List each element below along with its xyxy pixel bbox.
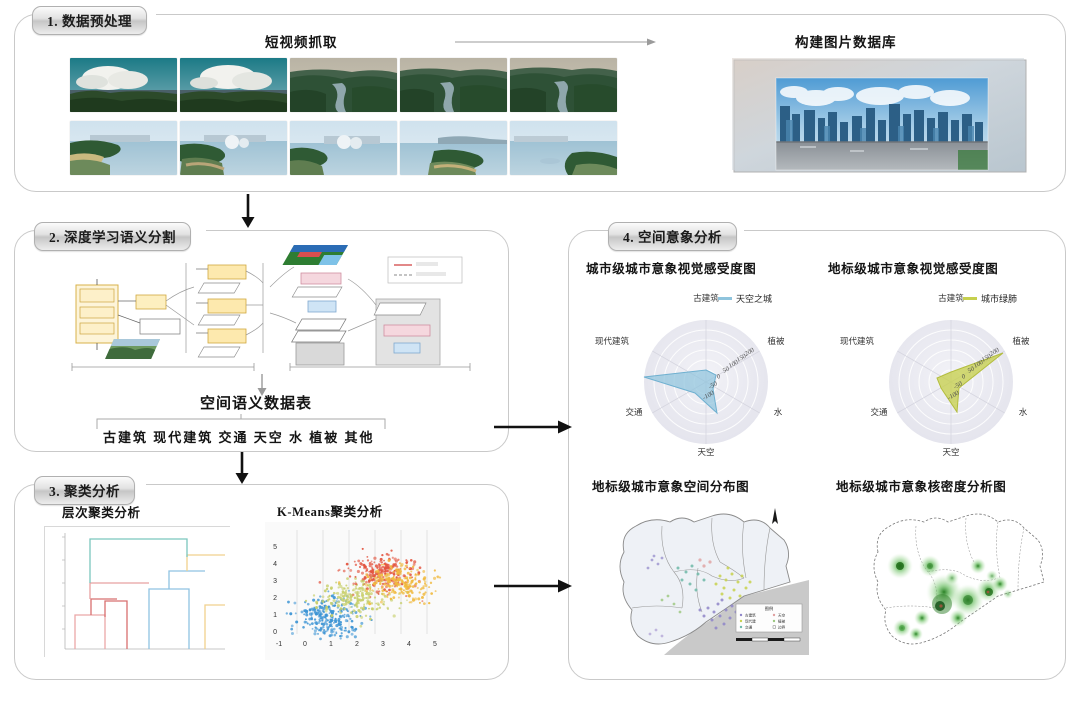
- radar-axis-label: 交通: [625, 406, 642, 418]
- svg-text:1: 1: [273, 612, 277, 619]
- svg-text:现代建: 现代建: [745, 618, 756, 623]
- svg-text:5: 5: [273, 544, 277, 551]
- section-tab-3[interactable]: 3. 聚类分析: [34, 476, 135, 505]
- radar-axis-label: 交通: [870, 406, 887, 418]
- thumbnail-frame: [180, 121, 287, 175]
- radar-axis-label: 现代建筑: [840, 335, 874, 347]
- thumbnail-frame: [510, 121, 617, 175]
- radar-chart-city: 200 150 100 50 0 -50 -100: [600, 282, 820, 462]
- database-title: 构建图片数据库: [795, 31, 897, 51]
- thumbnail-frame: [180, 58, 287, 112]
- flow-arrow-1-to-2: [240, 194, 256, 228]
- video-capture-title: 短视频抓取: [265, 31, 338, 51]
- radar-chart-landmark: 200 150 100 50 0 -50 -100: [845, 282, 1065, 462]
- svg-text:0: 0: [273, 629, 277, 636]
- thumbnail-frame: [70, 121, 177, 175]
- thumbnail-frame: [510, 58, 617, 112]
- radar-axis-label: 古建筑: [693, 292, 719, 304]
- radar-legend-landmark: 城市绿肺: [963, 292, 1017, 305]
- radar-city-title: 城市级城市意象视觉感受度图: [586, 258, 756, 277]
- section-tab-1[interactable]: 1. 数据预处理: [32, 6, 147, 35]
- svg-text:5: 5: [433, 641, 437, 648]
- map-point-distribution: 图例 古建筑 现代建 交通 天空 植被 边界: [594, 500, 809, 655]
- semantic-category-list: 古建筑 现代建筑 交通 天空 水 植被 其他: [103, 427, 375, 446]
- thumbnail-frame: [290, 58, 397, 112]
- radar-axis-label: 水: [774, 406, 783, 418]
- dendrogram-chart: [44, 526, 230, 657]
- network-architecture-diagram: [58, 243, 486, 373]
- thumbnail-frame: [400, 58, 507, 112]
- svg-text:2: 2: [355, 641, 359, 648]
- legend-swatch: [718, 297, 732, 300]
- svg-text:图例: 图例: [765, 605, 773, 612]
- flow-arrow-3-to-4: [494, 578, 574, 594]
- section-tab-2[interactable]: 2. 深度学习语义分割: [34, 222, 191, 251]
- svg-text:天空: 天空: [778, 612, 786, 617]
- svg-text:1: 1: [329, 641, 333, 648]
- radar-axis-label: 天空: [942, 446, 959, 458]
- thumbnail-frame: [70, 58, 177, 112]
- radar-axis-label: 古建筑: [938, 292, 964, 304]
- svg-text:交通: 交通: [745, 624, 753, 629]
- flow-arrow-2-to-4: [494, 419, 574, 435]
- svg-text:-1: -1: [276, 641, 282, 648]
- svg-text:4: 4: [407, 641, 411, 648]
- svg-text:3: 3: [273, 578, 277, 585]
- kmeans-scatter-chart: -101 234 5 012 345: [265, 522, 460, 660]
- legend-label: 城市绿肺: [981, 292, 1017, 305]
- radar-axis-label: 现代建筑: [595, 335, 629, 347]
- legend-label: 天空之城: [736, 292, 772, 305]
- radar-axis-label: 天空: [697, 446, 714, 458]
- kmeans-cluster-title: K-Means聚类分析: [277, 501, 383, 520]
- svg-text:3: 3: [381, 641, 385, 648]
- radar-axis-label: 水: [1019, 406, 1028, 418]
- svg-text:边界: 边界: [778, 624, 786, 629]
- map-distribution-title: 地标级城市意象空间分布图: [592, 476, 749, 495]
- map-kde-title: 地标级城市意象核密度分析图: [836, 476, 1006, 495]
- svg-text:古建筑: 古建筑: [745, 612, 756, 617]
- flow-arrow-to-data-table: [256, 374, 268, 396]
- radar-axis-label: 植被: [1012, 335, 1029, 347]
- thumbnail-frame: [400, 121, 507, 175]
- section-tab-4[interactable]: 4. 空间意象分析: [608, 222, 737, 251]
- radar-axis-label: 植被: [767, 335, 784, 347]
- flow-arrow-2-to-3: [234, 452, 250, 484]
- svg-text:植被: 植被: [778, 618, 786, 623]
- radar-landmark-title: 地标级城市意象视觉感受度图: [828, 258, 998, 277]
- map-kernel-density: [848, 500, 1063, 655]
- svg-text:2: 2: [273, 595, 277, 602]
- svg-text:4: 4: [273, 561, 277, 568]
- radar-legend-city: 天空之城: [718, 292, 772, 305]
- image-database-stack: [730, 54, 1030, 183]
- thumbnail-frame: [290, 121, 397, 175]
- flow-arrow-capture-to-db: [455, 36, 660, 48]
- svg-text:0: 0: [303, 641, 307, 648]
- legend-swatch: [963, 297, 977, 300]
